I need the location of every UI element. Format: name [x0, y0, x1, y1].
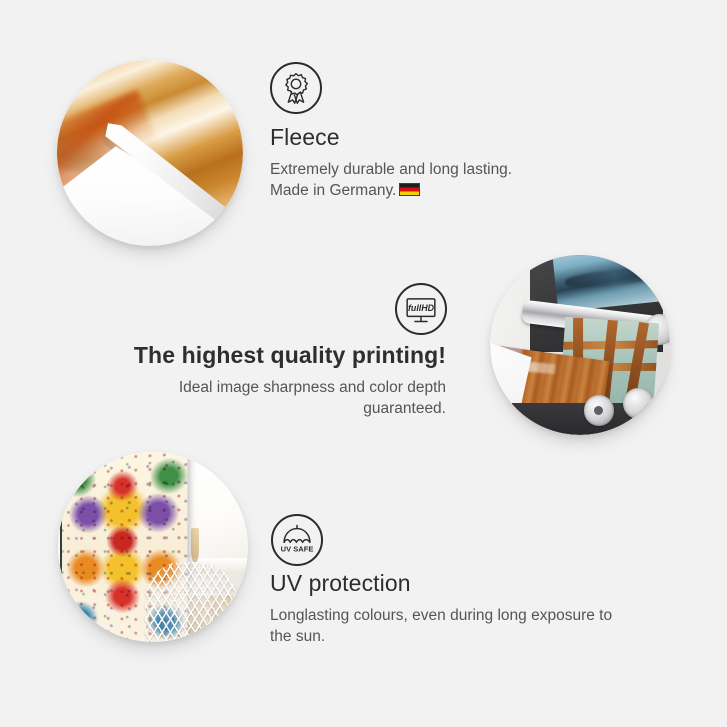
- uv-umbrella-icon: UV SAFE: [271, 514, 323, 566]
- uv-headline: UV protection: [270, 570, 670, 597]
- uv-safe-icon-label: UV SAFE: [281, 544, 314, 553]
- printing-body: Ideal image sharpness and color depth gu…: [130, 378, 446, 420]
- uv-photo-inner: [58, 452, 248, 642]
- printing-text-block: The highest quality printing! Ideal imag…: [130, 342, 446, 420]
- infographic-stage: Fleece Extremely durable and long lastin…: [0, 0, 727, 727]
- fleece-photo-inner: [57, 60, 243, 246]
- fleece-body-line-2: Made in Germany.: [270, 182, 396, 199]
- uv-body: Longlasting colours, even during long ex…: [270, 606, 670, 648]
- vase: [191, 528, 199, 562]
- printing-press-machine-photo: [490, 255, 670, 435]
- fleece-text-block: Fleece Extremely durable and long lastin…: [270, 124, 670, 202]
- uv-body-line-1: Longlasting colours, even during long ex…: [270, 607, 612, 624]
- fleece-body: Extremely durable and long lasting. Made…: [270, 160, 670, 202]
- award-ribbon-icon: [270, 62, 322, 114]
- printing-body-line-2: guaranteed.: [363, 400, 446, 417]
- fullhd-monitor-icon: fullHD: [395, 283, 447, 335]
- white-wire-chair: [145, 562, 236, 642]
- mandala-wallpaper-interior-photo: [58, 452, 248, 642]
- fleece-wallpaper-peeled-corner-photo: [57, 60, 243, 246]
- printing-body-line-1: Ideal image sharpness and color depth: [179, 379, 446, 396]
- fullhd-icon-label: fullHD: [408, 303, 435, 313]
- printer-photo-inner: [490, 255, 670, 435]
- uv-body-line-2: the sun.: [270, 628, 325, 645]
- wallpaper-panel-edge: [60, 454, 62, 642]
- german-flag-icon: [399, 183, 420, 196]
- fleece-headline: Fleece: [270, 124, 670, 151]
- printing-headline: The highest quality printing!: [130, 342, 446, 369]
- fleece-body-line-1: Extremely durable and long lasting.: [270, 161, 512, 178]
- printer-gear: [623, 388, 654, 419]
- uv-text-block: UV protection Longlasting colours, even …: [270, 570, 670, 648]
